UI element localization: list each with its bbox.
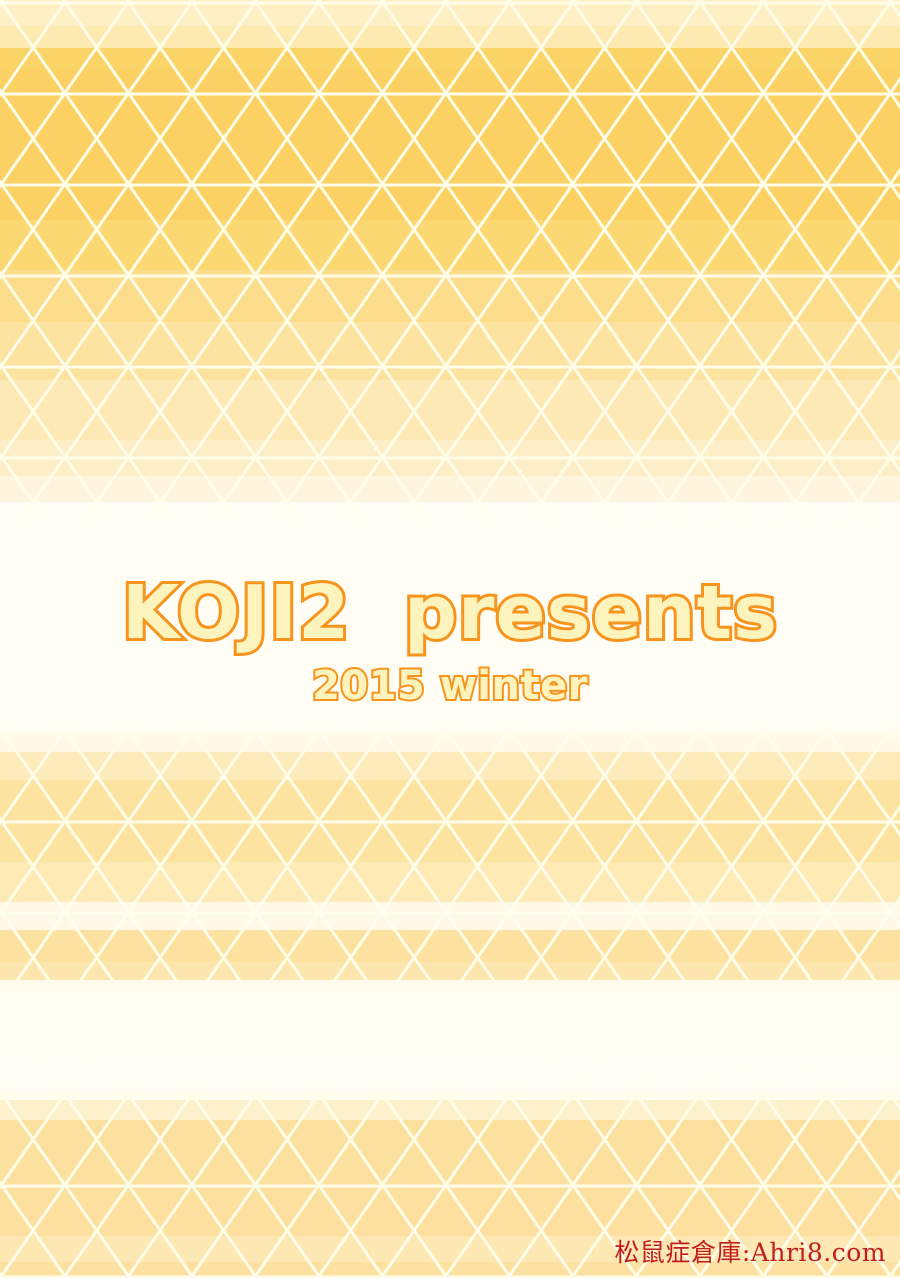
band-lower-white-plate2 [0, 1050, 900, 1100]
band-white-plate-edge [0, 730, 900, 752]
band-lower-pale-strip [0, 902, 900, 930]
background-bands [0, 0, 900, 1278]
site-watermark: 松鼠症倉庫:Ahri8.com [614, 1238, 886, 1268]
band-upper-light [0, 270, 900, 322]
band-mid-cream [0, 322, 900, 380]
band-lower-white-plate [0, 980, 900, 1050]
band-mid-paler [0, 440, 900, 476]
cover-page: KOJI2 presents 2015 winter 松鼠症倉庫:Ahri8.c… [0, 0, 900, 1278]
band-lower-yellow-b [0, 930, 900, 962]
band-top-pale [0, 26, 900, 48]
band-upper-mid [0, 220, 900, 270]
band-lower-light-a [0, 862, 900, 902]
band-lower-yellow-c [0, 962, 900, 980]
band-lower-yellow-a [0, 780, 900, 862]
band-lower-yellow-e [0, 1202, 900, 1236]
band-top-deep [0, 48, 900, 70]
band-upper-deep [0, 70, 900, 220]
band-mid-pale [0, 380, 900, 440]
band-lower-yellow-d [0, 1120, 900, 1202]
band-top-highlight [0, 0, 900, 26]
band-lower-cream-b [0, 1100, 900, 1120]
band-fade-to-white [0, 476, 900, 502]
band-lower-cream-a [0, 752, 900, 780]
band-white-plate [0, 502, 900, 730]
